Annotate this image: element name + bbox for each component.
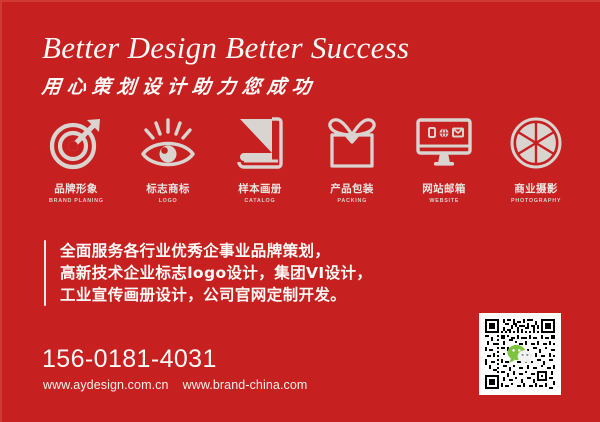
url-primary[interactable]: www.aydesign.com.cn: [43, 378, 169, 392]
service-label-cn: 网站邮箱: [422, 181, 466, 196]
book-icon: [231, 114, 289, 172]
website-urls: www.aydesign.com.cnwww.brand-china.com: [43, 378, 321, 392]
monitor-icon: [415, 114, 473, 172]
service-item-brand-planning[interactable]: 品牌形象 BRAND PLANING: [30, 114, 122, 204]
service-label-cn: 商业摄影: [514, 181, 558, 196]
eye-icon: [139, 114, 197, 172]
body-copy-block: 全面服务各行业优秀企事业品牌策划， 高新技术企业标志logo设计，集团VI设计，…: [44, 240, 372, 306]
service-item-catalog[interactable]: 样本画册 CATALOG: [214, 114, 306, 204]
service-label-cn: 产品包装: [330, 181, 374, 196]
body-line: 工业宣传画册设计，公司官网定制开发。: [60, 284, 372, 306]
service-item-photography[interactable]: 商业摄影 PHOTOGRAPHY: [490, 114, 582, 204]
service-item-packing[interactable]: 产品包装 PACKING: [306, 114, 398, 204]
body-line: 高新技术企业标志logo设计，集团VI设计，: [60, 262, 372, 284]
service-label-cn: 品牌形象: [54, 181, 98, 196]
service-label-en: WEBSITE: [429, 198, 459, 204]
url-secondary[interactable]: www.brand-china.com: [183, 378, 308, 392]
qr-matrix: [483, 317, 557, 391]
service-label-en: LOGO: [159, 198, 178, 204]
phone-number: 156-0181-4031: [42, 345, 217, 374]
poster-canvas: Better Design Better Success 用心策划设计助力您成功…: [0, 0, 600, 422]
page-subtitle: 用心策划设计助力您成功: [41, 72, 411, 99]
service-icon-row: 品牌形象 BRAND PLANING 标志商标: [30, 114, 582, 204]
accent-bar: [44, 240, 46, 306]
service-label-en: BRAND PLANING: [49, 198, 104, 204]
service-label-en: CATALOG: [245, 198, 276, 204]
page-title: Better Design Better Success: [42, 32, 409, 65]
service-label-cn: 样本画册: [238, 181, 282, 196]
body-line: 全面服务各行业优秀企事业品牌策划，: [60, 240, 372, 262]
service-label-en: PACKING: [337, 198, 367, 204]
wechat-qr-code[interactable]: [479, 313, 561, 395]
wechat-logo: [507, 344, 533, 364]
target-dart-icon: [47, 114, 105, 172]
service-item-website[interactable]: 网站邮箱 WEBSITE: [398, 114, 490, 204]
gift-box-icon: [323, 114, 381, 172]
headline-block: Better Design Better Success 用心策划设计助力您成功: [42, 32, 409, 99]
camera-shutter-icon: [507, 114, 565, 172]
service-label-en: PHOTOGRAPHY: [511, 198, 561, 204]
service-label-cn: 标志商标: [146, 181, 190, 196]
service-item-logo[interactable]: 标志商标 LOGO: [122, 114, 214, 204]
body-copy-lines: 全面服务各行业优秀企事业品牌策划， 高新技术企业标志logo设计，集团VI设计，…: [60, 240, 372, 306]
